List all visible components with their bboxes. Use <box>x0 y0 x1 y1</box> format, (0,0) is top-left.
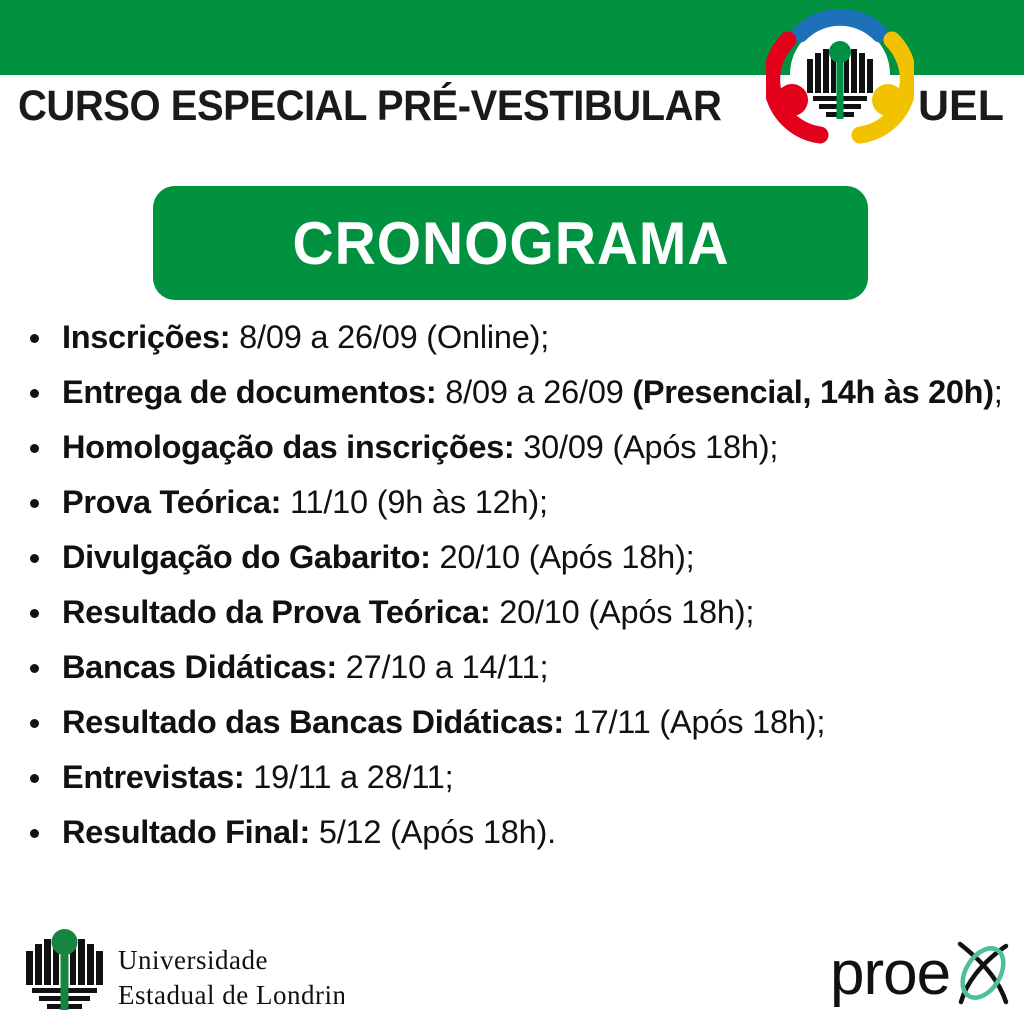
list-item: Entrega de documentos: 8/09 a 26/09 (Pre… <box>0 367 1024 418</box>
schedule-item-label: Resultado da Prova Teórica: <box>62 594 490 630</box>
list-item: Prova Teórica: 11/10 (9h às 12h); <box>0 477 1024 528</box>
list-item: Inscrições: 8/09 a 26/09 (Online); <box>0 312 1024 363</box>
uel-circular-logo <box>766 4 914 152</box>
schedule-item-label: Resultado das Bancas Didáticas: <box>62 704 564 740</box>
schedule-item-value-bold: (Presencial, 14h às 20h) <box>632 374 993 410</box>
list-item: Bancas Didáticas: 27/10 a 14/11; <box>0 642 1024 693</box>
schedule-item-label: Resultado Final: <box>62 814 310 850</box>
schedule-item-label: Homologação das inscrições: <box>62 429 514 465</box>
schedule-item-label: Entrega de documentos: <box>62 374 436 410</box>
bullet-icon <box>30 499 39 508</box>
schedule-item-value-tail: ; <box>994 374 1003 410</box>
schedule-item-label: Prova Teórica: <box>62 484 281 520</box>
bullet-icon <box>30 389 39 398</box>
cronograma-banner-label: CRONOGRAMA <box>292 209 729 278</box>
bullet-icon <box>30 334 39 343</box>
schedule-item-value: 27/10 a 14/11; <box>337 649 548 685</box>
schedule-item-value: 20/10 (Após 18h); <box>431 539 695 575</box>
list-item: Resultado Final: 5/12 (Após 18h). <box>0 807 1024 858</box>
bullet-icon <box>30 829 39 838</box>
header-brand-uel: UEL <box>918 82 1004 131</box>
schedule-item-label: Entrevistas: <box>62 759 244 795</box>
bullet-icon <box>30 719 39 728</box>
svg-text:proe: proe <box>830 939 950 1008</box>
list-item: Entrevistas: 19/11 a 28/11; <box>0 752 1024 803</box>
bullet-icon <box>30 774 39 783</box>
cronograma-banner: CRONOGRAMA <box>153 186 868 300</box>
svg-text:Estadual de Londrina: Estadual de Londrina <box>118 980 344 1010</box>
schedule-item-label: Inscrições: <box>62 319 230 355</box>
schedule-item-value: 8/09 a 26/09 (Online); <box>230 319 549 355</box>
bullet-icon <box>30 609 39 618</box>
svg-text:Universidade: Universidade <box>118 945 268 975</box>
schedule-item-value: 30/09 (Após 18h); <box>514 429 778 465</box>
list-item: Divulgação do Gabarito: 20/10 (Após 18h)… <box>0 532 1024 583</box>
schedule-list: Inscrições: 8/09 a 26/09 (Online); Entre… <box>0 312 1024 862</box>
list-item: Homologação das inscrições: 30/09 (Após … <box>0 422 1024 473</box>
bullet-icon <box>30 444 39 453</box>
list-item: Resultado das Bancas Didáticas: 17/11 (A… <box>0 697 1024 748</box>
bullet-icon <box>30 554 39 563</box>
schedule-item-value: 8/09 a 26/09 <box>436 374 632 410</box>
bullet-icon <box>30 664 39 673</box>
schedule-item-label: Bancas Didáticas: <box>62 649 337 685</box>
schedule-item-value: 20/10 (Após 18h); <box>490 594 754 630</box>
proex-logo: proe <box>828 928 1018 1014</box>
page-title: CURSO ESPECIAL PRÉ-VESTIBULAR <box>18 82 721 131</box>
schedule-item-value: 19/11 a 28/11; <box>244 759 453 795</box>
schedule-item-value: 17/11 (Após 18h); <box>564 704 825 740</box>
schedule-item-value: 5/12 (Após 18h). <box>310 814 556 850</box>
universidade-estadual-de-londrina-logo: Universidade Estadual de Londrina <box>14 925 344 1015</box>
schedule-item-label: Divulgação do Gabarito: <box>62 539 431 575</box>
list-item: Resultado da Prova Teórica: 20/10 (Após … <box>0 587 1024 638</box>
schedule-item-value: 11/10 (9h às 12h); <box>281 484 548 520</box>
